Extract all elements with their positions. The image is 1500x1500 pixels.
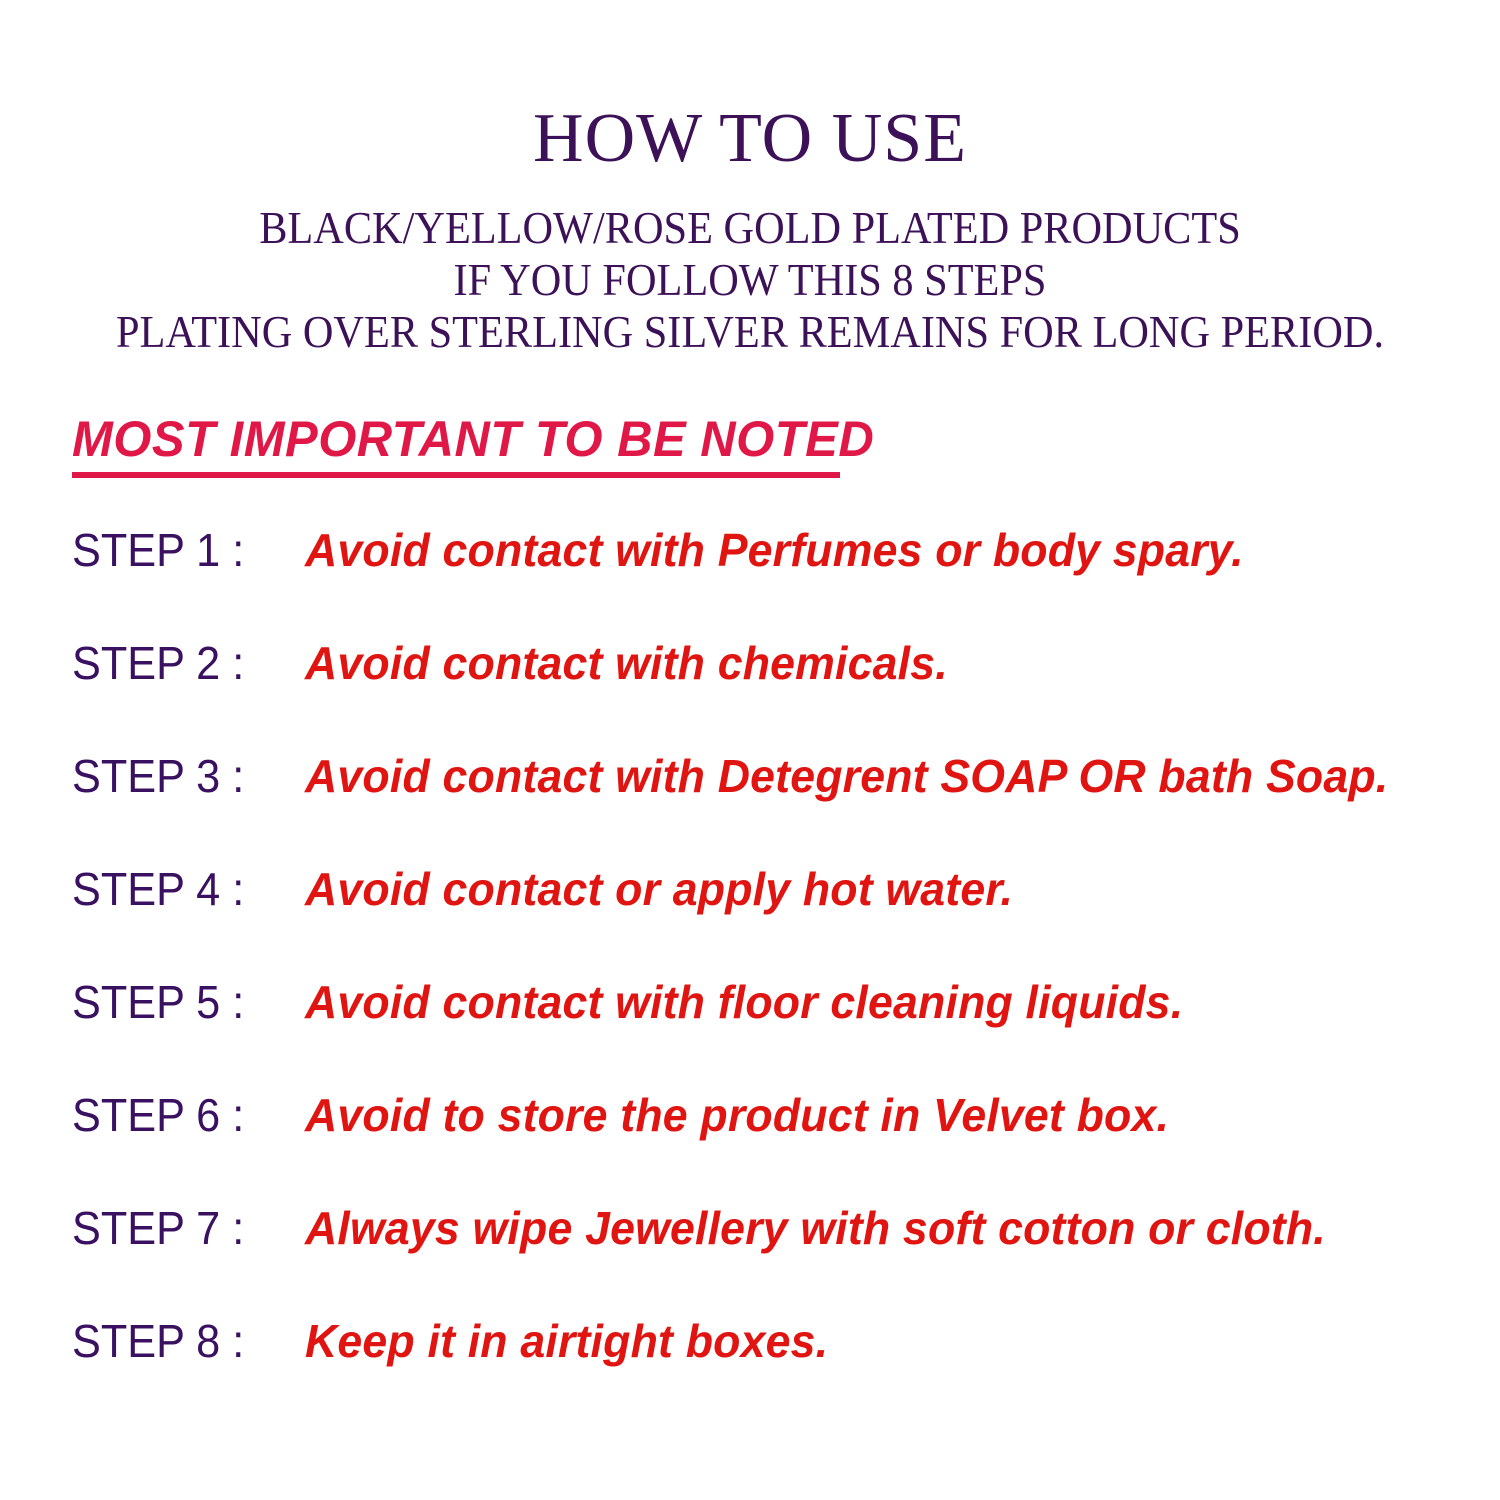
notice-underline	[72, 472, 840, 478]
step-description: Avoid contact with floor cleaning liquid…	[305, 977, 1183, 1027]
list-item: STEP 2 : Avoid contact with chemicals.	[0, 638, 1500, 751]
header-block: HOW TO USE BLACK/YELLOW/ROSE GOLD PLATED…	[0, 0, 1500, 358]
list-item: STEP 4 : Avoid contact or apply hot wate…	[0, 864, 1500, 977]
how-to-use-instruction-card: HOW TO USE BLACK/YELLOW/ROSE GOLD PLATED…	[0, 0, 1500, 1500]
step-label: STEP 4 :	[72, 864, 244, 914]
list-item: STEP 6 : Avoid to store the product in V…	[0, 1090, 1500, 1203]
step-description: Avoid contact or apply hot water.	[305, 864, 1013, 914]
step-description: Avoid contact with Detegrent SOAP OR bat…	[305, 751, 1388, 801]
list-item: STEP 3 : Avoid contact with Detegrent SO…	[0, 751, 1500, 864]
step-label: STEP 1 :	[72, 525, 244, 575]
step-description: Avoid contact with Perfumes or body spar…	[305, 525, 1244, 575]
step-description: Avoid contact with chemicals.	[305, 638, 948, 688]
subtitle-line-3: PLATING OVER STERLING SILVER REMAINS FOR…	[60, 306, 1440, 358]
steps-list: STEP 1 : Avoid contact with Perfumes or …	[0, 525, 1500, 1429]
step-label: STEP 7 :	[72, 1203, 244, 1253]
step-label: STEP 6 :	[72, 1090, 244, 1140]
important-notice: MOST IMPORTANT TO BE NOTED	[72, 414, 891, 478]
step-description: Avoid to store the product in Velvet box…	[305, 1090, 1169, 1140]
list-item: STEP 1 : Avoid contact with Perfumes or …	[0, 525, 1500, 638]
step-description: Keep it in airtight boxes.	[305, 1316, 828, 1366]
page-title: HOW TO USE	[0, 0, 1500, 174]
list-item: STEP 8 : Keep it in airtight boxes.	[0, 1316, 1500, 1429]
important-notice-heading: MOST IMPORTANT TO BE NOTED	[72, 414, 874, 464]
subtitle-block: BLACK/YELLOW/ROSE GOLD PLATED PRODUCTS I…	[0, 202, 1500, 358]
subtitle-line-1: BLACK/YELLOW/ROSE GOLD PLATED PRODUCTS	[60, 202, 1440, 254]
list-item: STEP 5 : Avoid contact with floor cleani…	[0, 977, 1500, 1090]
step-label: STEP 3 :	[72, 751, 244, 801]
list-item: STEP 7 : Always wipe Jewellery with soft…	[0, 1203, 1500, 1316]
step-label: STEP 2 :	[72, 638, 244, 688]
step-label: STEP 5 :	[72, 977, 244, 1027]
step-label: STEP 8 :	[72, 1316, 244, 1366]
step-description: Always wipe Jewellery with soft cotton o…	[305, 1203, 1326, 1253]
subtitle-line-2: IF YOU FOLLOW THIS 8 STEPS	[60, 254, 1440, 306]
